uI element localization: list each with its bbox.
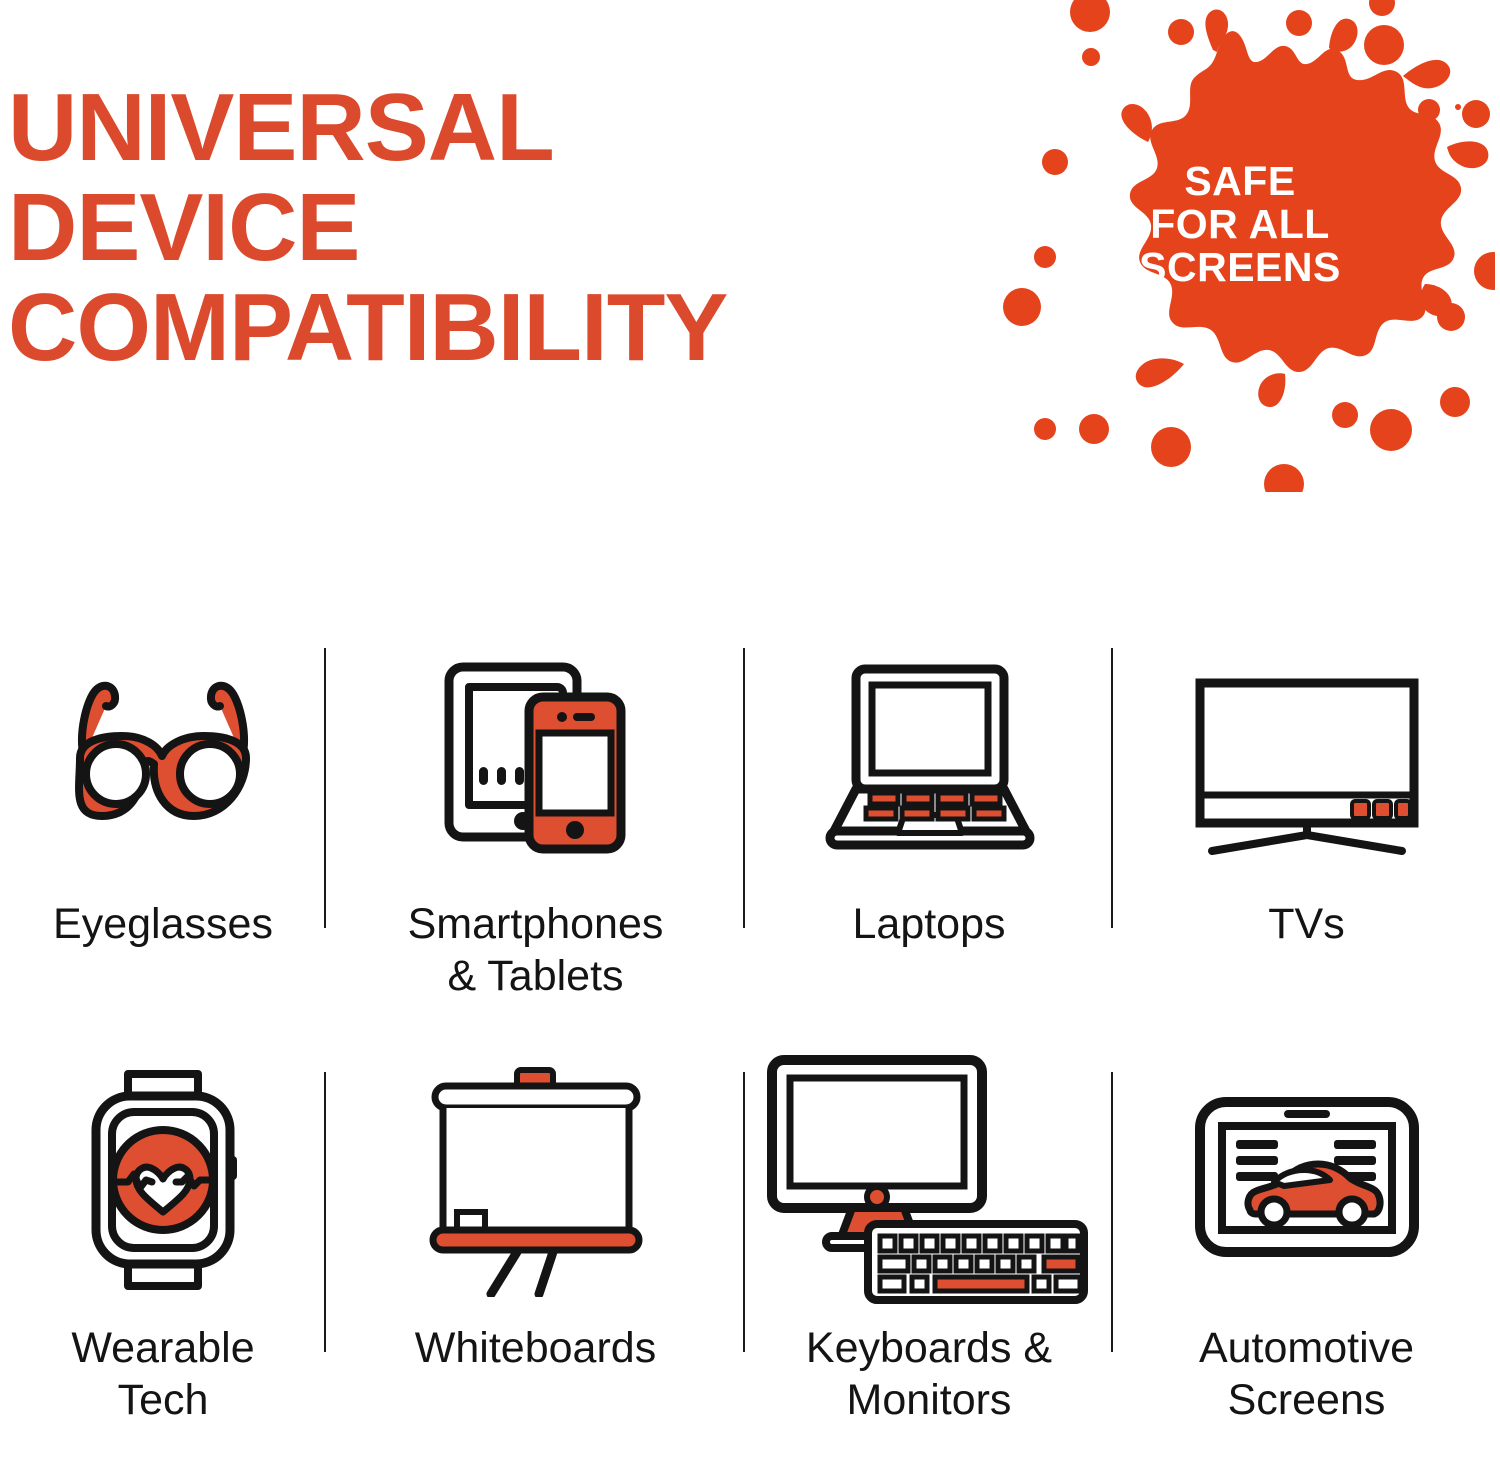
paint-splat-icon	[985, 0, 1495, 492]
grid-cell-tvs: TVs	[1113, 630, 1500, 1036]
cell-label: Automotive Screens	[1113, 1322, 1500, 1426]
grid-row-2: Wearable Tech	[0, 1054, 1500, 1460]
cell-label-line-1: Wearable	[0, 1322, 326, 1374]
grid-cell-automotive-screens: Automotive Screens	[1113, 1054, 1500, 1460]
cell-label: TVs	[1113, 898, 1500, 950]
grid-cell-wearable-tech: Wearable Tech	[0, 1054, 326, 1460]
device-compatibility-grid: Eyeglasses	[0, 630, 1500, 1442]
cell-label-line-1: Smartphones	[326, 898, 745, 950]
cell-label-line-1: Whiteboards	[326, 1322, 745, 1374]
cell-label-line-2: Tech	[0, 1374, 326, 1426]
smartwatch-icon	[0, 1054, 326, 1304]
cell-label: Wearable Tech	[0, 1322, 326, 1426]
safe-for-all-screens-badge: SAFE FOR ALL SCREENS	[985, 0, 1495, 492]
smartphone-tablet-icon	[326, 630, 745, 880]
page-title-line-1: UNIVERSAL	[8, 78, 948, 178]
cell-label: Smartphones & Tablets	[326, 898, 745, 1002]
tv-icon	[1113, 630, 1500, 880]
grid-cell-smartphones-tablets: Smartphones & Tablets	[326, 630, 745, 1036]
cell-label-line-1: Keyboards &	[745, 1322, 1113, 1374]
page-title-line-2: DEVICE	[8, 178, 948, 278]
grid-cell-whiteboards: Whiteboards	[326, 1054, 745, 1460]
cell-label: Keyboards & Monitors	[745, 1322, 1113, 1426]
cell-label: Eyeglasses	[0, 898, 326, 950]
cell-label: Whiteboards	[326, 1322, 745, 1374]
cell-label-line-2: & Tablets	[326, 950, 745, 1002]
page-title: UNIVERSAL DEVICE COMPATIBILITY	[8, 78, 948, 378]
eyeglasses-icon	[0, 630, 326, 880]
grid-row-1: Eyeglasses	[0, 630, 1500, 1036]
laptop-icon	[745, 630, 1113, 880]
keyboard-monitor-icon	[745, 1054, 1113, 1304]
page-title-line-3: COMPATIBILITY	[8, 278, 948, 378]
cell-label-line-2: Monitors	[745, 1374, 1113, 1426]
automotive-screen-icon	[1113, 1054, 1500, 1304]
cell-label-line-1: TVs	[1113, 898, 1500, 950]
cell-label-line-1: Eyeglasses	[0, 898, 326, 950]
cell-label-line-2: Screens	[1113, 1374, 1500, 1426]
grid-cell-eyeglasses: Eyeglasses	[0, 630, 326, 1036]
grid-cell-laptops: Laptops	[745, 630, 1113, 1036]
cell-label: Laptops	[745, 898, 1113, 950]
cell-label-line-1: Automotive	[1113, 1322, 1500, 1374]
grid-cell-keyboards-monitors: Keyboards & Monitors	[745, 1054, 1113, 1460]
whiteboard-icon	[326, 1054, 745, 1304]
cell-label-line-1: Laptops	[745, 898, 1113, 950]
